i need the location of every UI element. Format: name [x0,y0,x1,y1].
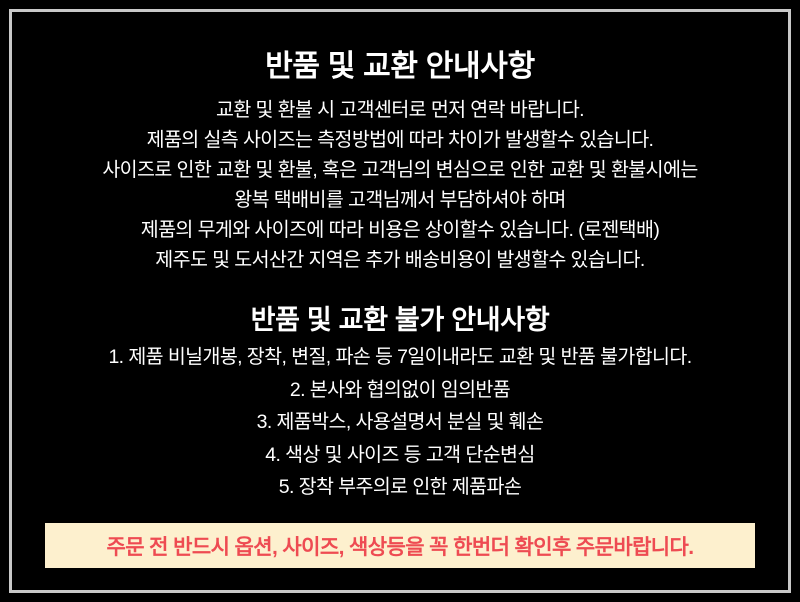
notice-line: 교환 및 환불 시 고객센터로 먼저 연락 바랍니다. [18,95,782,125]
return-exchange-notice-heading: 반품 및 교환 안내사항 [18,0,782,87]
notice-line: 제품의 무게와 사이즈에 따라 비용은 상이할수 있습니다. (로젠택배) [18,215,782,245]
restriction-item: 3. 제품박스, 사용설명서 분실 및 훼손 [18,406,782,439]
notice-line: 왕복 택배비를 고객님께서 부담하셔야 하며 [18,185,782,215]
return-exchange-notice-list: 교환 및 환불 시 고객센터로 먼저 연락 바랍니다. 제품의 실측 사이즈는 … [18,95,782,275]
notice-content: 반품 및 교환 안내사항 교환 및 환불 시 고객센터로 먼저 연락 바랍니다.… [0,0,800,602]
final-notice-box: 주문 전 반드시 옵션, 사이즈, 색상등을 꼭 한번더 확인후 주문바랍니다. [45,523,755,568]
restriction-item: 5. 장착 부주의로 인한 제품파손 [18,471,782,504]
restriction-item: 2. 본사와 협의없이 임의반품 [18,374,782,407]
restriction-item: 1. 제품 비닐개봉, 장착, 변질, 파손 등 7일이내라도 교환 및 반품 … [18,341,782,374]
notice-line: 제주도 및 도서산간 지역은 추가 배송비용이 발생할수 있습니다. [18,245,782,275]
final-notice-text: 주문 전 반드시 옵션, 사이즈, 색상등을 꼭 한번더 확인후 주문바랍니다. [107,531,694,561]
notice-line: 제품의 실측 사이즈는 측정방법에 따라 차이가 발생할수 있습니다. [18,125,782,155]
return-exchange-restriction-list: 1. 제품 비닐개봉, 장착, 변질, 파손 등 7일이내라도 교환 및 반품 … [18,341,782,504]
notice-banner: 반품 및 교환 안내사항 교환 및 환불 시 고객센터로 먼저 연락 바랍니다.… [0,0,800,602]
notice-line: 사이즈로 인한 교환 및 환불, 혹은 고객님의 변심으로 인한 교환 및 환불… [18,155,782,185]
return-exchange-restriction-heading: 반품 및 교환 불가 안내사항 [18,275,782,339]
restriction-item: 4. 색상 및 사이즈 등 고객 단순변심 [18,439,782,472]
